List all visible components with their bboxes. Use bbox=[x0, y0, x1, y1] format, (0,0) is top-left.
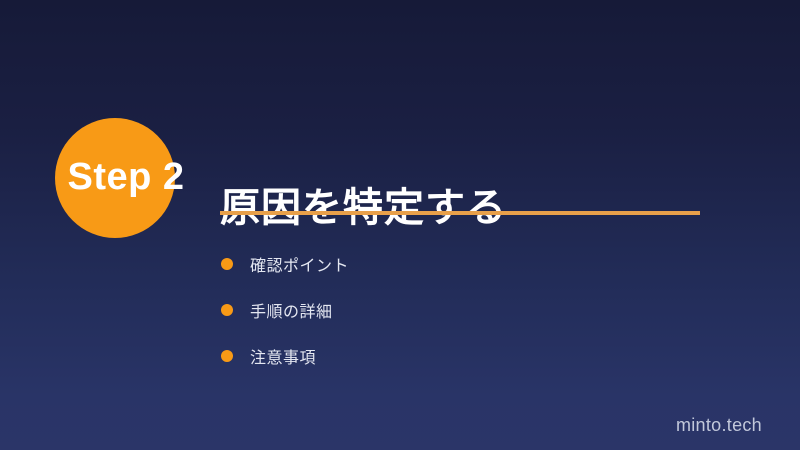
list-item: 注意事項 bbox=[221, 333, 349, 379]
list-item-label: 注意事項 bbox=[250, 344, 316, 368]
list-item: 確認ポイント bbox=[221, 241, 349, 287]
bullet-dot-icon bbox=[221, 258, 233, 270]
slide-title: 原因を特定する bbox=[220, 175, 507, 233]
list-item: 手順の詳細 bbox=[221, 287, 349, 333]
bullet-dot-icon bbox=[221, 304, 233, 316]
slide-canvas: Step 2 原因を特定する 確認ポイント 手順の詳細 注意事項 minto.t… bbox=[0, 0, 800, 450]
bullet-list: 確認ポイント 手順の詳細 注意事項 bbox=[221, 241, 349, 379]
list-item-label: 確認ポイント bbox=[250, 252, 349, 276]
title-divider bbox=[220, 211, 700, 215]
list-item-label: 手順の詳細 bbox=[250, 298, 333, 322]
step-badge-label: Step 2 bbox=[46, 152, 206, 202]
footer-brand: minto.tech bbox=[676, 415, 762, 436]
bullet-dot-icon bbox=[221, 350, 233, 362]
